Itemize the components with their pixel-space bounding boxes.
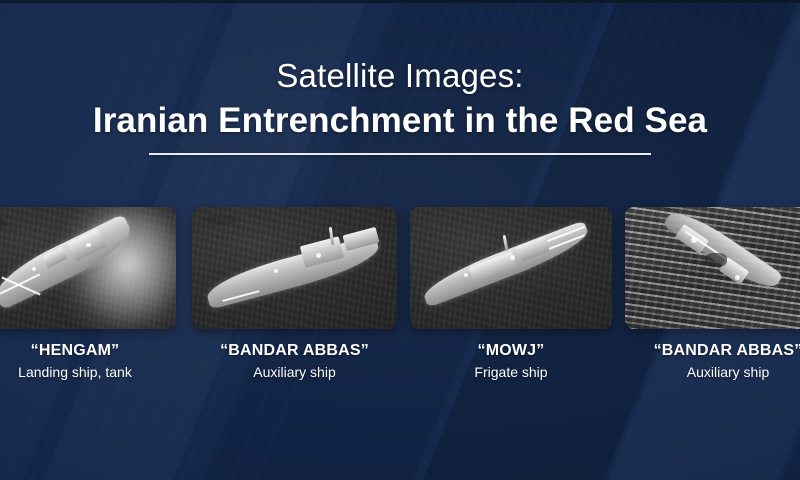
- panel-caption: “BANDAR ABBAS” Auxiliary ship: [192, 340, 397, 382]
- title-block: Satellite Images: Iranian Entrenchment i…: [0, 56, 800, 155]
- panel-caption: “HENGAM” Landing ship, tank: [0, 340, 176, 382]
- ship-name-label: “HENGAM”: [0, 340, 176, 361]
- ship-name-label: “MOWJ”: [410, 340, 612, 361]
- satellite-image-panel[interactable]: [192, 207, 397, 329]
- image-panel-row: [0, 207, 800, 329]
- ship-name-label: “BANDAR ABBAS”: [192, 340, 397, 361]
- ship-type-label: Landing ship, tank: [0, 363, 176, 382]
- satellite-image-panel[interactable]: [625, 207, 800, 329]
- satellite-image-panel[interactable]: [410, 207, 612, 329]
- panel-caption: “BANDAR ABBAS” Auxiliary ship: [625, 340, 800, 382]
- deck-detail: [86, 243, 91, 247]
- caption-row: “HENGAM” Landing ship, tank “BANDAR ABBA…: [0, 340, 800, 390]
- deck-detail: [316, 253, 321, 258]
- ship-type-label: Auxiliary ship: [625, 363, 800, 382]
- ship-name-label: “BANDAR ABBAS”: [625, 340, 800, 361]
- title-divider: [149, 153, 651, 155]
- deck-detail: [464, 273, 468, 277]
- deck-detail: [510, 255, 515, 260]
- satellite-image-panel[interactable]: [0, 207, 176, 329]
- sea-texture-blot: [530, 289, 564, 301]
- sea-texture-blot: [705, 253, 727, 267]
- deck-detail: [691, 237, 697, 243]
- ship-type-label: Auxiliary ship: [192, 363, 397, 382]
- deck-detail: [32, 267, 36, 271]
- page-title-line1: Satellite Images:: [0, 56, 800, 96]
- ship-type-label: Frigate ship: [410, 363, 612, 382]
- deck-detail: [274, 269, 278, 273]
- top-edge-strip: [0, 0, 800, 3]
- sea-texture-blot: [206, 215, 236, 225]
- page-title-line2: Iranian Entrenchment in the Red Sea: [0, 99, 800, 143]
- slide-root: Satellite Images: Iranian Entrenchment i…: [0, 0, 800, 480]
- panel-caption: “MOWJ” Frigate ship: [410, 340, 612, 382]
- deck-detail: [735, 275, 740, 280]
